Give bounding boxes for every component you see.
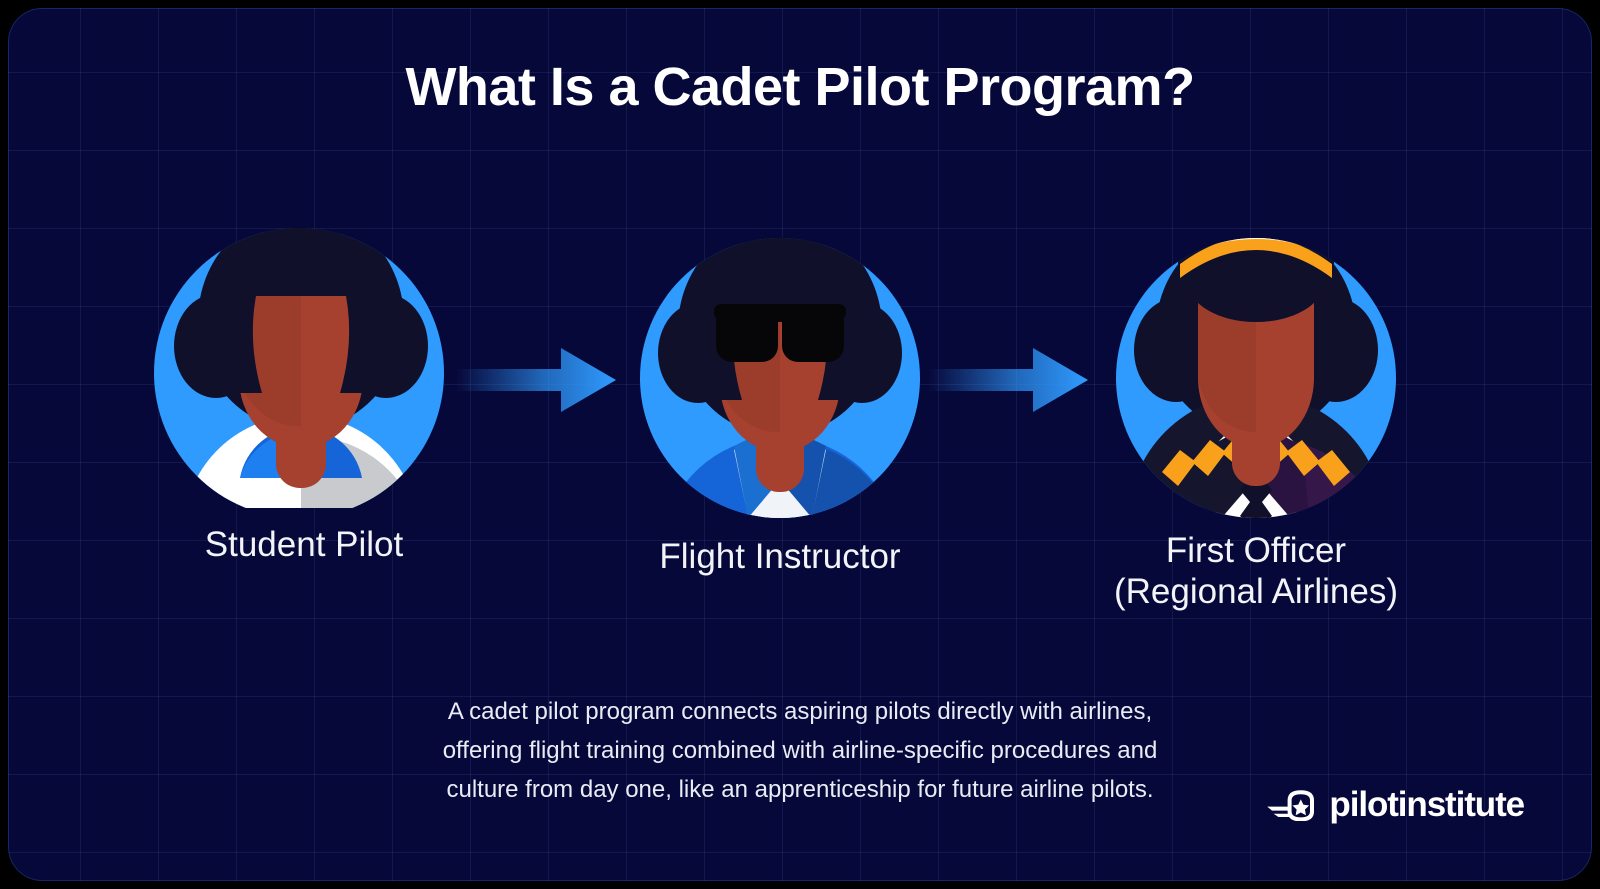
first-officer-illustration <box>1106 150 1406 518</box>
stage-sublabel-first-officer: (Regional Airlines) <box>1106 571 1406 612</box>
hair-fringe <box>728 220 830 290</box>
arrow-right-icon <box>928 346 1088 414</box>
stage-flight-instructor: Flight Instructor <box>630 188 930 577</box>
brand-logo-text: pilotinstitute <box>1329 785 1524 825</box>
flight-instructor-illustration <box>630 188 930 518</box>
avatar-flight-instructor <box>630 188 930 518</box>
arrow-right-icon <box>456 346 616 414</box>
brand-logo: pilotinstitute <box>1267 785 1524 825</box>
body-line-1: A cadet pilot program connects aspiring … <box>340 692 1260 731</box>
hat-wings-emblem <box>1212 198 1300 228</box>
winged-shield-star-icon <box>1267 789 1317 821</box>
arrow-1 <box>456 346 616 414</box>
body-line-2: offering flight training combined with a… <box>340 731 1260 770</box>
page-title: What Is a Cadet Pilot Program? <box>8 56 1592 118</box>
stage-label-student-pilot: Student Pilot <box>154 524 454 565</box>
hair-fringe <box>250 212 352 282</box>
avatar-first-officer <box>1106 150 1406 518</box>
avatar-student-pilot <box>154 178 454 508</box>
infographic-card: What Is a Cadet Pilot Program? <box>8 8 1592 881</box>
body-line-3: culture from day one, like an apprentice… <box>340 770 1260 809</box>
body-copy: A cadet pilot program connects aspiring … <box>340 692 1260 809</box>
student-pilot-illustration <box>154 178 454 508</box>
stage-student-pilot: Student Pilot <box>154 178 454 565</box>
stage-label-first-officer: First Officer <box>1106 530 1406 571</box>
stage-first-officer: First Officer (Regional Airlines) <box>1106 150 1406 612</box>
arrow-2 <box>928 346 1088 414</box>
stage-label-flight-instructor: Flight Instructor <box>630 536 930 577</box>
